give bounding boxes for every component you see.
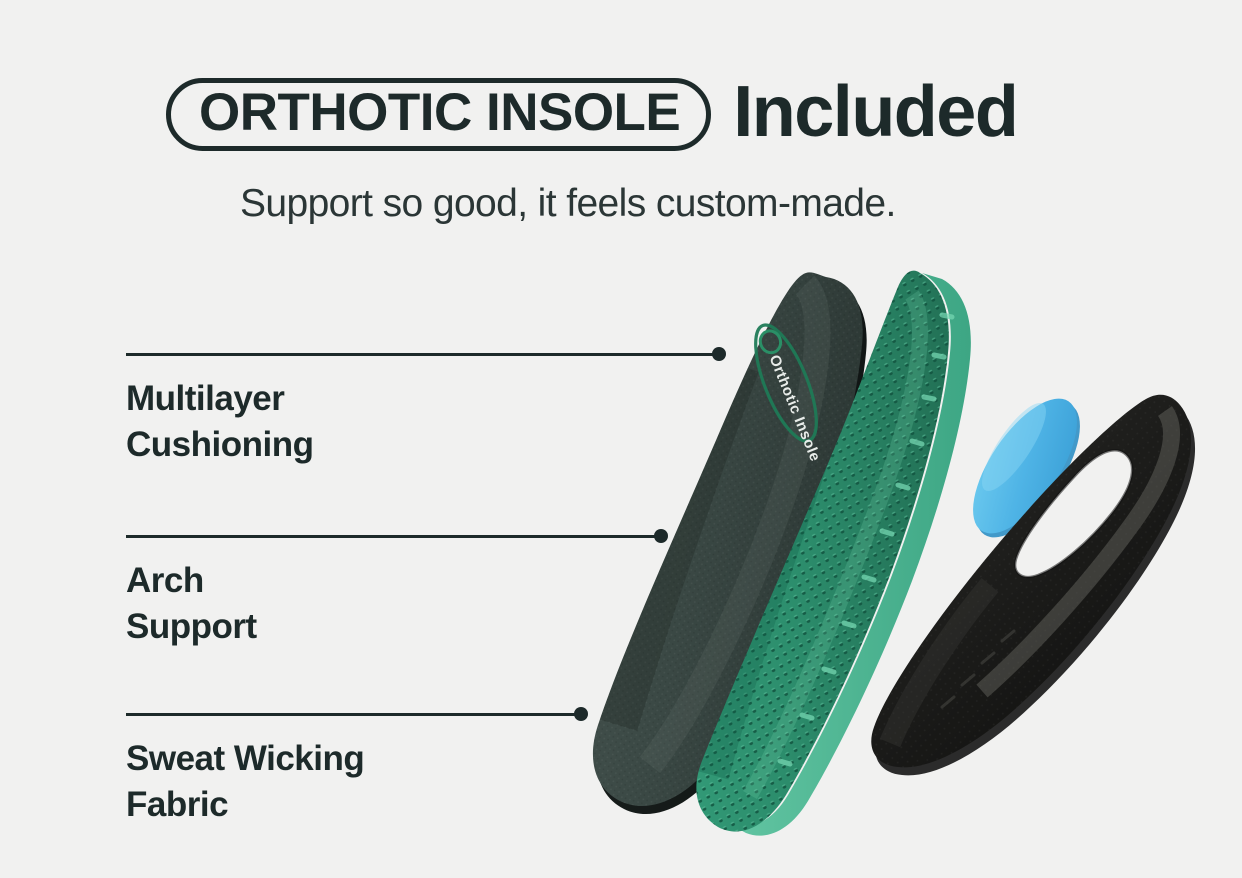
leader-line-dot <box>574 707 588 721</box>
leader-line <box>126 347 313 361</box>
product-image: Orthotic Insole <box>590 255 1210 845</box>
subtitle: Support so good, it feels custom-made. <box>240 182 896 226</box>
orthotic-insole-pill: ORTHOTIC INSOLE <box>166 78 711 151</box>
headline: ORTHOTIC INSOLE Included <box>166 78 1017 151</box>
infographic-canvas: ORTHOTIC INSOLE Included Support so good… <box>0 0 1242 878</box>
feature-label: Arch Support <box>126 558 257 649</box>
feature-callout: Arch Support <box>126 529 257 649</box>
pill-label: ORTHOTIC INSOLE <box>199 86 680 139</box>
feature-label: Sweat Wicking Fabric <box>126 736 364 827</box>
headline-suffix: Included <box>733 76 1017 148</box>
leader-line-stroke <box>126 713 576 716</box>
feature-label: Multilayer Cushioning <box>126 376 313 467</box>
feature-callout: Multilayer Cushioning <box>126 347 313 467</box>
leader-line <box>126 707 364 721</box>
leader-line <box>126 529 257 543</box>
leader-line-stroke <box>126 535 656 538</box>
feature-callout: Sweat Wicking Fabric <box>126 707 364 827</box>
